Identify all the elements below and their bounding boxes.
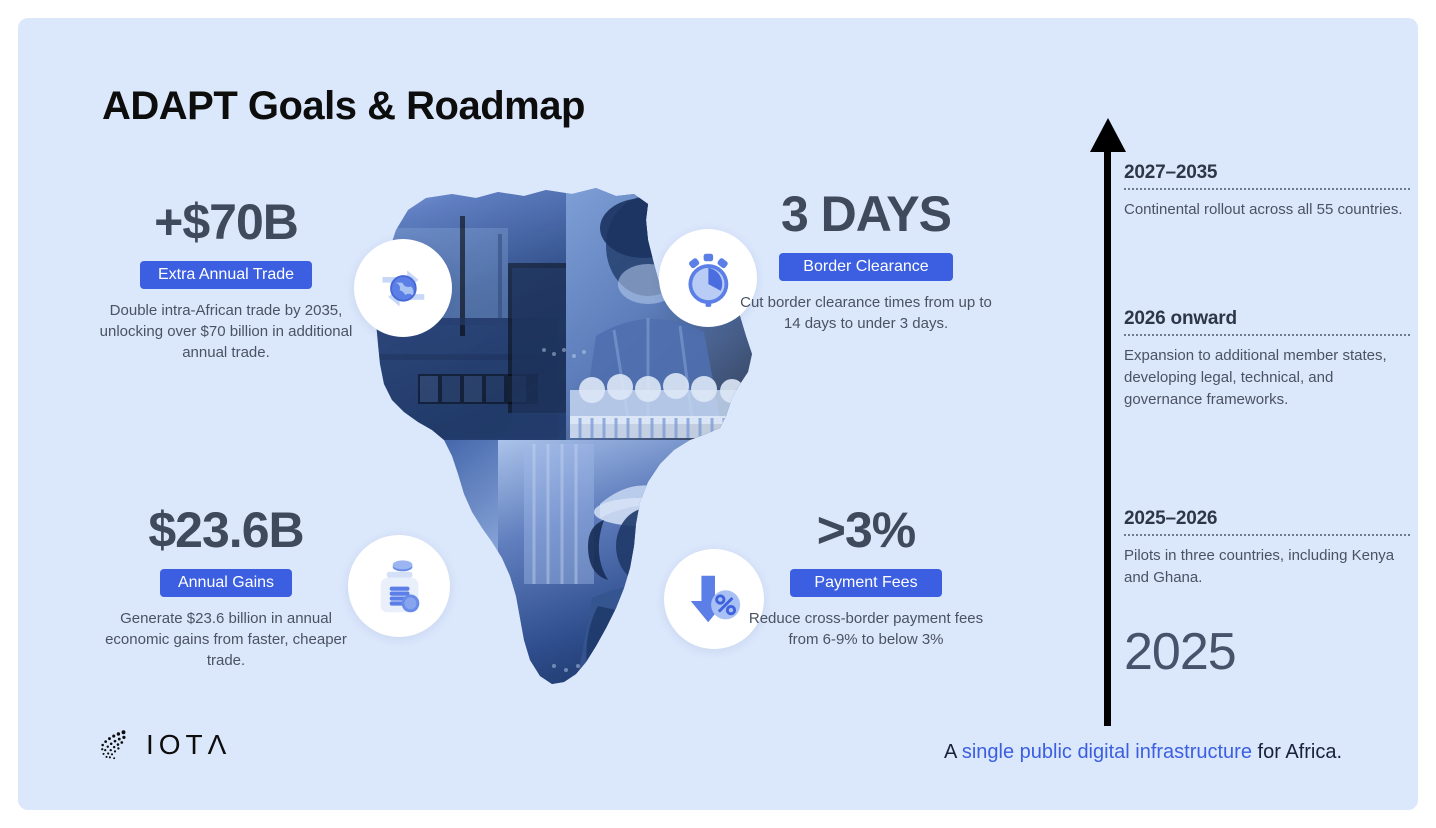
stat-value: $23.6B bbox=[96, 504, 356, 557]
tagline: A single public digital infrastructure f… bbox=[944, 741, 1342, 764]
iota-logo: IOTΛ bbox=[98, 728, 231, 762]
iota-wordmark: IOTΛ bbox=[146, 729, 231, 761]
stat-description: Cut border clearance times from up to 14… bbox=[736, 292, 996, 335]
timeline-text: Expansion to additional member states, d… bbox=[1124, 345, 1410, 411]
iota-mark-icon bbox=[98, 728, 132, 762]
stat-badge: Payment Fees bbox=[790, 569, 941, 597]
stat-value: 3 DAYS bbox=[736, 188, 996, 241]
stat-card-trade: +$70B Extra Annual Trade Double intra-Af… bbox=[96, 196, 356, 363]
globe-exchange-icon bbox=[354, 239, 452, 337]
stat-value: >3% bbox=[736, 504, 996, 557]
tagline-suffix: for Africa. bbox=[1252, 741, 1342, 763]
stat-value: +$70B bbox=[96, 196, 356, 249]
stat-description: Double intra-African trade by 2035, unlo… bbox=[96, 300, 356, 364]
timeline-divider bbox=[1124, 188, 1410, 190]
stat-card-fees: >3% Payment Fees Reduce cross-border pay… bbox=[736, 504, 996, 650]
timeline-period: 2025–2026 bbox=[1124, 508, 1410, 530]
roadmap-timeline: 2027–2035 Continental rollout across all… bbox=[1080, 110, 1410, 710]
timeline-divider bbox=[1124, 534, 1410, 536]
timeline-base-year: 2025 bbox=[1124, 622, 1236, 682]
tagline-prefix: A bbox=[944, 741, 962, 763]
timeline-axis bbox=[1104, 148, 1111, 726]
stat-description: Generate $23.6 billion in annual economi… bbox=[96, 608, 356, 672]
timeline-period: 2026 onward bbox=[1124, 308, 1410, 330]
timeline-text: Continental rollout across all 55 countr… bbox=[1124, 199, 1410, 221]
infographic-panel: ADAPT Goals & Roadmap bbox=[18, 18, 1418, 810]
savings-jar-icon bbox=[348, 535, 450, 637]
timeline-period: 2027–2035 bbox=[1124, 162, 1410, 184]
timeline-divider bbox=[1124, 334, 1410, 336]
timeline-text: Pilots in three countries, including Ken… bbox=[1124, 545, 1410, 589]
stat-card-border: 3 DAYS Border Clearance Cut border clear… bbox=[736, 188, 996, 334]
stat-description: Reduce cross-border payment fees from 6-… bbox=[736, 608, 996, 651]
stat-badge: Annual Gains bbox=[160, 569, 292, 597]
timeline-item: 2026 onward Expansion to additional memb… bbox=[1124, 308, 1410, 411]
tagline-highlight: single public digital infrastructure bbox=[962, 741, 1252, 763]
page-title: ADAPT Goals & Roadmap bbox=[102, 84, 585, 129]
timeline-item: 2025–2026 Pilots in three countries, inc… bbox=[1124, 508, 1410, 589]
stat-badge: Extra Annual Trade bbox=[140, 261, 312, 289]
timeline-item: 2027–2035 Continental rollout across all… bbox=[1124, 162, 1410, 221]
timeline-arrow-icon bbox=[1090, 118, 1126, 152]
stat-card-gains: $23.6B Annual Gains Generate $23.6 billi… bbox=[96, 504, 356, 671]
stat-badge: Border Clearance bbox=[779, 253, 952, 281]
